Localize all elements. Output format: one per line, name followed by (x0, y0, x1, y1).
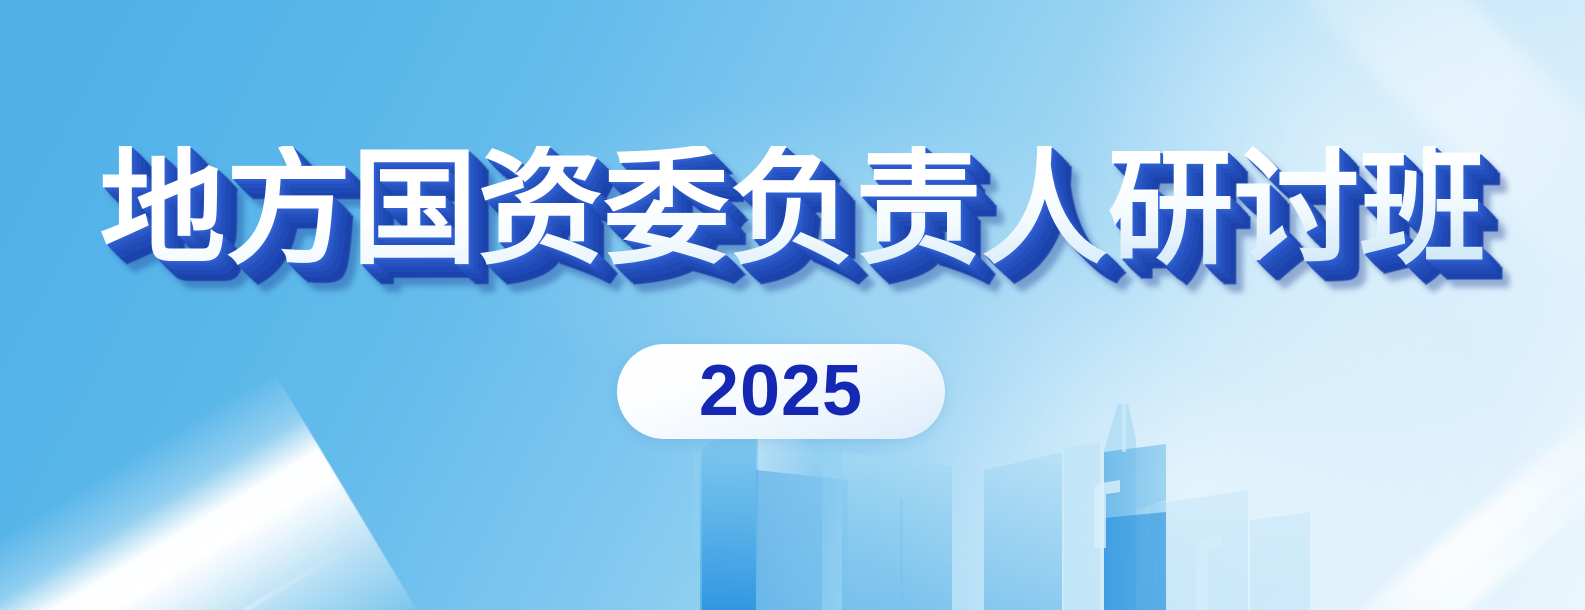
building-right-pale (1064, 442, 1100, 610)
antenna-tall (1122, 398, 1126, 452)
building-pale-wide (842, 452, 952, 610)
building-spire-facet (1104, 444, 1166, 520)
building-far-right-outline (1196, 536, 1222, 610)
building-spire-top (1104, 404, 1136, 610)
bottom-left-light-streak (0, 351, 416, 610)
page-title: 地方国资委负责人研讨班 (100, 146, 1486, 272)
antenna-mid (900, 500, 903, 610)
bottom-right-light-streak (1271, 373, 1585, 610)
year-badge: 2025 (617, 344, 945, 439)
building-angled-spire (758, 432, 822, 610)
city-skyline (0, 0, 1585, 610)
building-left-rounded (700, 433, 756, 610)
building-tall-spire (1104, 444, 1166, 610)
building-spire-base (1104, 512, 1166, 610)
antenna-small (1155, 560, 1158, 610)
headline-container: 地方国资委负责人研讨班 (0, 146, 1585, 272)
building-ghost-far-right (1250, 512, 1310, 610)
building-ghost-right (1150, 490, 1248, 610)
building-mid-block (756, 470, 848, 610)
year-badge-label: 2025 (699, 355, 863, 427)
building-left-edge (694, 452, 702, 610)
building-notch-outline (1094, 480, 1120, 548)
bottom-left-highlight-line (0, 545, 351, 610)
building-right-slanted (984, 452, 1062, 610)
bottom-right-light-streak-secondary (1349, 396, 1585, 610)
event-banner: 地方国资委负责人研讨班 2025 (0, 0, 1585, 610)
